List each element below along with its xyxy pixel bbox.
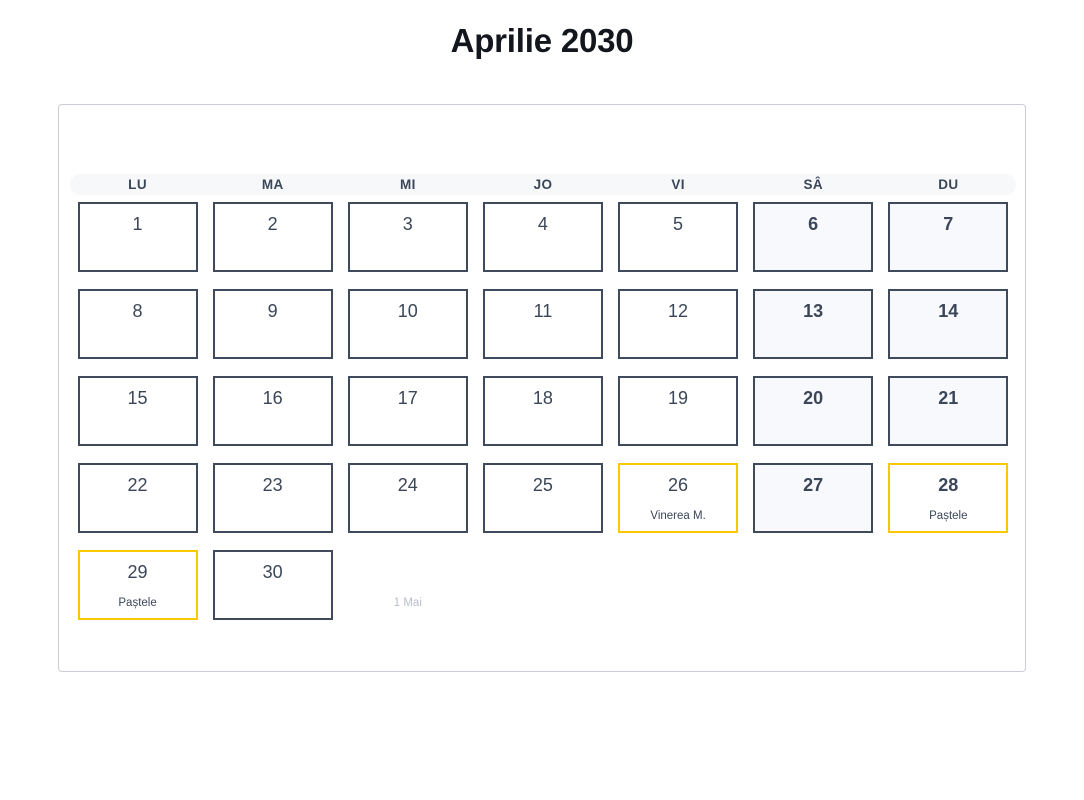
day-number: 1 bbox=[133, 215, 143, 233]
day-number: 23 bbox=[263, 476, 283, 494]
day-slot-empty bbox=[611, 550, 746, 620]
day-slot: 22 bbox=[70, 463, 205, 533]
day-slot: 8 bbox=[70, 289, 205, 359]
day-cell-27[interactable]: 27 bbox=[753, 463, 873, 533]
day-cell-9[interactable]: 9 bbox=[213, 289, 333, 359]
holiday-label: Paștele bbox=[118, 598, 156, 610]
day-cell-12[interactable]: 12 bbox=[618, 289, 738, 359]
calendar-week-row: 891011121314 bbox=[70, 289, 1016, 359]
calendar-week-row: 15161718192021 bbox=[70, 376, 1016, 446]
next-month-label-slot: 1 Mai bbox=[340, 550, 475, 620]
day-number: 16 bbox=[263, 389, 283, 407]
day-number: 24 bbox=[398, 476, 418, 494]
day-slot: 17 bbox=[340, 376, 475, 446]
day-cell-25[interactable]: 25 bbox=[483, 463, 603, 533]
day-slot-empty bbox=[475, 550, 610, 620]
day-slot: 13 bbox=[746, 289, 881, 359]
day-cell-11[interactable]: 11 bbox=[483, 289, 603, 359]
day-slot: 5 bbox=[611, 202, 746, 272]
next-month-holiday-label: 1 Mai bbox=[394, 598, 422, 610]
day-number: 10 bbox=[398, 302, 418, 320]
day-cell-10[interactable]: 10 bbox=[348, 289, 468, 359]
day-cell-15[interactable]: 15 bbox=[78, 376, 198, 446]
weekday-header-MI: MI bbox=[340, 174, 475, 195]
day-slot: 30 bbox=[205, 550, 340, 620]
day-slot: 28Paștele bbox=[881, 463, 1016, 533]
day-cell-28[interactable]: 28Paștele bbox=[888, 463, 1008, 533]
calendar-week-row: 2223242526Vinerea M.2728Paștele bbox=[70, 463, 1016, 533]
day-cell-8[interactable]: 8 bbox=[78, 289, 198, 359]
day-number: 14 bbox=[938, 302, 958, 320]
day-slot: 29Paștele bbox=[70, 550, 205, 620]
day-slot: 12 bbox=[611, 289, 746, 359]
day-cell-26[interactable]: 26Vinerea M. bbox=[618, 463, 738, 533]
day-number: 12 bbox=[668, 302, 688, 320]
day-cell-4[interactable]: 4 bbox=[483, 202, 603, 272]
day-cell-24[interactable]: 24 bbox=[348, 463, 468, 533]
day-cell-3[interactable]: 3 bbox=[348, 202, 468, 272]
weekday-header-JO: JO bbox=[475, 174, 610, 195]
day-slot: 19 bbox=[611, 376, 746, 446]
day-slot: 26Vinerea M. bbox=[611, 463, 746, 533]
day-cell-21[interactable]: 21 bbox=[888, 376, 1008, 446]
day-cell-5[interactable]: 5 bbox=[618, 202, 738, 272]
day-number: 21 bbox=[938, 389, 958, 407]
day-slot: 23 bbox=[205, 463, 340, 533]
calendar-page: Aprilie 2030 LUMAMIJOVISÂDU 123456789101… bbox=[0, 0, 1084, 800]
day-slot: 3 bbox=[340, 202, 475, 272]
day-cell-7[interactable]: 7 bbox=[888, 202, 1008, 272]
day-slot: 21 bbox=[881, 376, 1016, 446]
day-cell-14[interactable]: 14 bbox=[888, 289, 1008, 359]
day-number: 22 bbox=[128, 476, 148, 494]
day-cell-23[interactable]: 23 bbox=[213, 463, 333, 533]
day-number: 15 bbox=[128, 389, 148, 407]
day-number: 27 bbox=[803, 476, 823, 494]
day-cell-1[interactable]: 1 bbox=[78, 202, 198, 272]
day-slot: 1 bbox=[70, 202, 205, 272]
day-slot-empty bbox=[881, 550, 1016, 620]
day-cell-30[interactable]: 30 bbox=[213, 550, 333, 620]
day-slot: 18 bbox=[475, 376, 610, 446]
day-number: 7 bbox=[943, 215, 953, 233]
day-cell-16[interactable]: 16 bbox=[213, 376, 333, 446]
day-cell-6[interactable]: 6 bbox=[753, 202, 873, 272]
day-number: 30 bbox=[263, 563, 283, 581]
day-number: 2 bbox=[268, 215, 278, 233]
day-slot: 6 bbox=[746, 202, 881, 272]
page-title: Aprilie 2030 bbox=[0, 22, 1084, 60]
day-number: 18 bbox=[533, 389, 553, 407]
calendar-card: LUMAMIJOVISÂDU 1234567891011121314151617… bbox=[58, 104, 1026, 672]
weekday-header-MA: MA bbox=[205, 174, 340, 195]
day-number: 25 bbox=[533, 476, 553, 494]
day-number: 6 bbox=[808, 215, 818, 233]
day-cell-17[interactable]: 17 bbox=[348, 376, 468, 446]
day-cell-19[interactable]: 19 bbox=[618, 376, 738, 446]
day-slot: 2 bbox=[205, 202, 340, 272]
day-number: 26 bbox=[668, 476, 688, 494]
day-slot: 15 bbox=[70, 376, 205, 446]
day-number: 19 bbox=[668, 389, 688, 407]
day-number: 20 bbox=[803, 389, 823, 407]
weekday-header-row: LUMAMIJOVISÂDU bbox=[70, 174, 1016, 195]
day-slot: 16 bbox=[205, 376, 340, 446]
holiday-label: Vinerea M. bbox=[650, 511, 705, 523]
day-number: 17 bbox=[398, 389, 418, 407]
day-slot: 27 bbox=[746, 463, 881, 533]
day-slot: 11 bbox=[475, 289, 610, 359]
weekday-header-LU: LU bbox=[70, 174, 205, 195]
day-slot: 24 bbox=[340, 463, 475, 533]
day-cell-2[interactable]: 2 bbox=[213, 202, 333, 272]
day-slot: 7 bbox=[881, 202, 1016, 272]
day-cell-29[interactable]: 29Paștele bbox=[78, 550, 198, 620]
weekday-header-DU: DU bbox=[881, 174, 1016, 195]
calendar-grid: 1234567891011121314151617181920212223242… bbox=[70, 202, 1016, 620]
calendar-week-row: 29Paștele301 Mai bbox=[70, 550, 1016, 620]
day-number: 8 bbox=[133, 302, 143, 320]
day-cell-20[interactable]: 20 bbox=[753, 376, 873, 446]
day-number: 13 bbox=[803, 302, 823, 320]
day-number: 3 bbox=[403, 215, 413, 233]
holiday-label: Paștele bbox=[929, 511, 967, 523]
day-slot: 20 bbox=[746, 376, 881, 446]
weekday-header-SÂ: SÂ bbox=[746, 174, 881, 195]
day-number: 4 bbox=[538, 215, 548, 233]
day-number: 28 bbox=[938, 476, 958, 494]
day-number: 5 bbox=[673, 215, 683, 233]
day-slot: 25 bbox=[475, 463, 610, 533]
day-cell-18[interactable]: 18 bbox=[483, 376, 603, 446]
day-number: 29 bbox=[128, 563, 148, 581]
day-slot: 14 bbox=[881, 289, 1016, 359]
weekday-header-VI: VI bbox=[611, 174, 746, 195]
day-number: 9 bbox=[268, 302, 278, 320]
day-cell-22[interactable]: 22 bbox=[78, 463, 198, 533]
day-number: 11 bbox=[534, 302, 553, 320]
day-slot-empty bbox=[746, 550, 881, 620]
calendar-week-row: 1234567 bbox=[70, 202, 1016, 272]
day-slot: 4 bbox=[475, 202, 610, 272]
day-slot: 10 bbox=[340, 289, 475, 359]
day-slot: 9 bbox=[205, 289, 340, 359]
day-cell-13[interactable]: 13 bbox=[753, 289, 873, 359]
